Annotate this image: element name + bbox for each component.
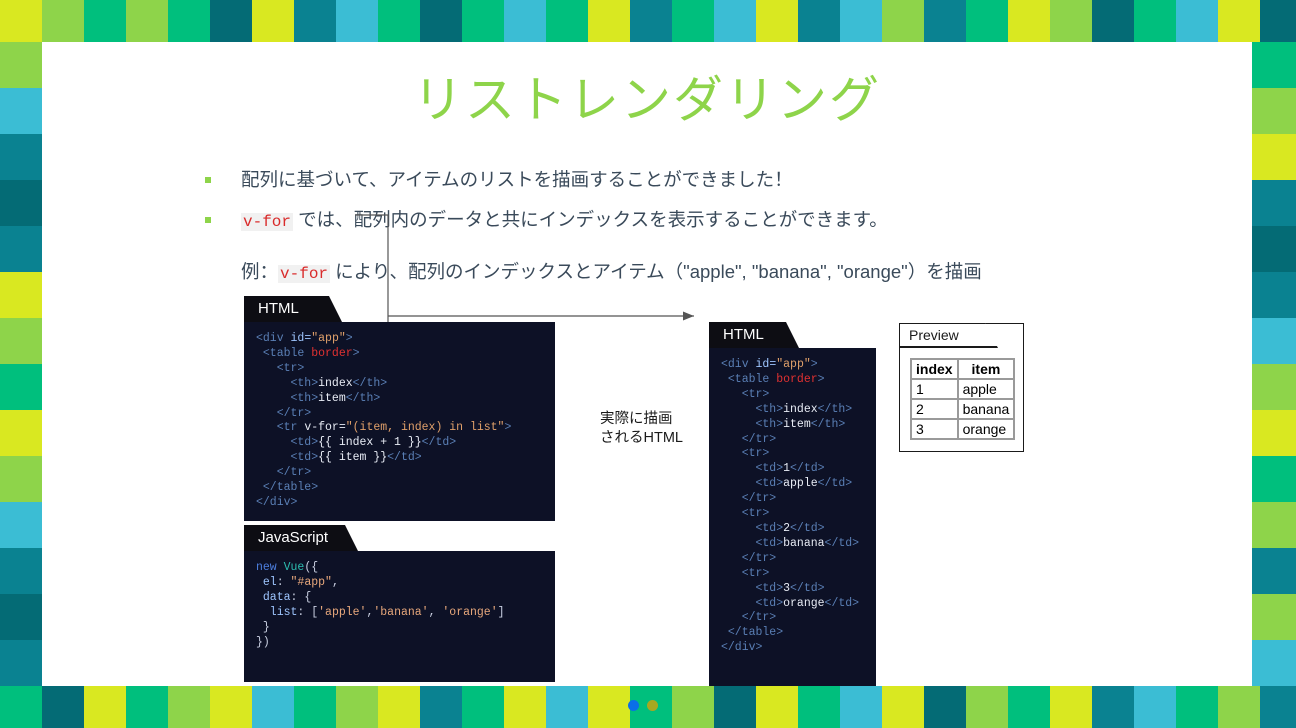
- decorative-tile: [1252, 180, 1296, 226]
- decorative-tile: [294, 0, 336, 42]
- decorative-tile: [84, 0, 126, 42]
- decorative-tile: [1092, 0, 1134, 42]
- preview-table-body: 1 apple 2 banana 3 orange: [911, 379, 1014, 439]
- decorative-tile: [0, 42, 42, 88]
- decorative-tile: [714, 0, 756, 42]
- code-token: item: [318, 392, 346, 405]
- code-token: {{ item }}: [318, 451, 387, 464]
- decorative-tile: [588, 686, 630, 728]
- decorative-tile: [504, 686, 546, 728]
- code-token: </th>: [818, 403, 853, 416]
- decorative-tile: [1252, 318, 1296, 364]
- decorative-tile: [378, 0, 420, 42]
- code-token: </table>: [256, 481, 318, 494]
- code-token: <tr>: [721, 447, 769, 460]
- code-token: "#app": [291, 576, 332, 589]
- decorative-tile: [210, 686, 252, 728]
- code-token: ,: [429, 606, 443, 619]
- decorative-tile: [1252, 42, 1296, 88]
- code-token: </table>: [721, 626, 783, 639]
- code-token: id=: [756, 358, 777, 371]
- decorative-tile: [1260, 686, 1296, 728]
- bullet-item-2-label: v-for では、配列内のデータと共にインデックスを表示することができます。: [241, 208, 888, 234]
- cell-item: orange: [958, 419, 1015, 439]
- decorative-tile: [1252, 456, 1296, 502]
- inline-code-v-for: v-for: [241, 213, 293, 231]
- decorative-tile: [1008, 0, 1050, 42]
- decorative-tile: [1176, 0, 1218, 42]
- decorative-tile: [0, 594, 42, 640]
- code-token: "(item, index) in list": [346, 421, 505, 434]
- slide-content-area: リストレンダリング 配列に基づいて、アイテムのリストを描画することができました！…: [42, 42, 1252, 686]
- code-token: <td>: [721, 462, 783, 475]
- decorative-tile: [546, 686, 588, 728]
- code-token: <td>: [721, 582, 783, 595]
- code-token: index: [318, 377, 353, 390]
- code-token: 'apple': [318, 606, 366, 619]
- decorative-tile: [0, 548, 42, 594]
- decorative-tile: [420, 686, 462, 728]
- code-token: <td>: [721, 522, 783, 535]
- code-token: apple: [783, 477, 818, 490]
- code-token: </tr>: [721, 552, 776, 565]
- table-header-row: index item: [911, 359, 1014, 379]
- panel-html-output-code: <div id="app"> <table border> <tr> <th>i…: [709, 348, 876, 686]
- code-token: </div>: [721, 641, 762, 654]
- table-row: 1 apple: [911, 379, 1014, 399]
- decorative-tile: [336, 0, 378, 42]
- bullet-item-1: 配列に基づいて、アイテムのリストを描画することができました！: [205, 168, 793, 193]
- page-title: リストレンダリング: [42, 60, 1252, 132]
- code-token: : {: [291, 591, 312, 604]
- code-token: <td>: [256, 451, 318, 464]
- code-token: item: [783, 418, 811, 431]
- code-token: <table: [256, 347, 311, 360]
- panel-html-output-tab[interactable]: HTML: [709, 322, 799, 348]
- code-token: </td>: [818, 477, 853, 490]
- decorative-tile: [462, 686, 504, 728]
- decorative-tile: [840, 0, 882, 42]
- code-token: ]: [498, 606, 505, 619]
- code-token: </td>: [790, 462, 825, 475]
- code-token: </tr>: [721, 433, 776, 446]
- decorative-tile: [378, 686, 420, 728]
- code-token: ({: [304, 561, 318, 574]
- panel-javascript: JavaScript new Vue({ el: "#app", data: {…: [244, 525, 555, 682]
- decorative-tile: [1260, 0, 1296, 42]
- code-token: </td>: [790, 522, 825, 535]
- code-token: v-for=: [304, 421, 345, 434]
- code-token: {{ index + 1 }}: [318, 436, 422, 449]
- code-token: <tr>: [721, 388, 769, 401]
- panel-preview-tab[interactable]: Preview: [899, 323, 998, 348]
- decorative-tile: [1050, 0, 1092, 42]
- decorative-tile: [0, 134, 42, 180]
- example-line: 例：v-for により、配列のインデックスとアイテム（"apple", "ban…: [241, 258, 982, 284]
- code-token: :: [277, 576, 291, 589]
- code-token: id=: [291, 332, 312, 345]
- panel-html-source-code: <div id="app"> <table border> <tr> <th>i…: [244, 322, 555, 521]
- code-token: Vue: [284, 561, 305, 574]
- code-token: </td>: [422, 436, 457, 449]
- code-token: orange: [783, 597, 824, 610]
- code-token: border: [776, 373, 817, 386]
- code-token: >: [818, 373, 825, 386]
- code-token: 3: [783, 582, 790, 595]
- decorative-tile: [588, 0, 630, 42]
- decorative-tile: [966, 686, 1008, 728]
- bullet-item-2: v-for では、配列内のデータと共にインデックスを表示することができます。: [205, 208, 888, 234]
- decorative-tile: [1252, 226, 1296, 272]
- decorative-border-left: [0, 42, 42, 686]
- decorative-tile: [1134, 686, 1176, 728]
- decorative-tile: [0, 226, 42, 272]
- code-token: >: [811, 358, 818, 371]
- decorative-tile: [1252, 364, 1296, 410]
- decorative-tile: [252, 0, 294, 42]
- panel-html-output: HTML <div id="app"> <table border> <tr> …: [709, 322, 876, 686]
- decorative-tile: [882, 686, 924, 728]
- cell-index: 2: [911, 399, 958, 419]
- preview-table-head: index item: [911, 359, 1014, 379]
- decorative-tile: [336, 686, 378, 728]
- bullet-item-1-label: 配列に基づいて、アイテムのリストを描画することができました！: [241, 168, 793, 193]
- code-token: </tr>: [256, 407, 311, 420]
- decorative-tile: [756, 0, 798, 42]
- code-token: <th>: [721, 403, 783, 416]
- decorative-tile: [252, 686, 294, 728]
- decorative-tile: [168, 0, 210, 42]
- decorative-tile: [756, 686, 798, 728]
- decorative-tile: [1252, 410, 1296, 456]
- decorative-tile: [1252, 594, 1296, 640]
- cell-index: 3: [911, 419, 958, 439]
- decorative-tile: [1252, 134, 1296, 180]
- code-token: <table: [721, 373, 776, 386]
- decorative-tile: [798, 686, 840, 728]
- code-token: index: [783, 403, 818, 416]
- decorative-tile: [0, 364, 42, 410]
- decorative-tile: [1252, 548, 1296, 594]
- decorative-tile: [1252, 640, 1296, 686]
- decorative-tile: [840, 686, 882, 728]
- inline-code-v-for: v-for: [278, 265, 330, 283]
- code-token: </td>: [825, 537, 860, 550]
- code-token: </tr>: [256, 466, 311, 479]
- code-token: </td>: [790, 582, 825, 595]
- decorative-tile: [672, 0, 714, 42]
- code-token: <td>: [721, 537, 783, 550]
- code-token: list: [256, 606, 297, 619]
- pagination-dot-1[interactable]: [628, 700, 639, 711]
- decorative-tile: [0, 272, 42, 318]
- decorative-tile: [1050, 686, 1092, 728]
- decorative-tile: [1252, 88, 1296, 134]
- decorative-tile: [462, 0, 504, 42]
- decorative-tile: [798, 0, 840, 42]
- decorative-tile: [0, 318, 42, 364]
- code-token: }): [256, 636, 270, 649]
- column-header-index: index: [911, 359, 958, 379]
- code-token: <tr>: [256, 362, 304, 375]
- pagination-dot-2[interactable]: [647, 700, 658, 711]
- connector-arrow: [42, 42, 1252, 686]
- code-token: >: [353, 347, 360, 360]
- code-token: <th>: [721, 418, 783, 431]
- panel-javascript-code: new Vue({ el: "#app", data: { list: ['ap…: [244, 551, 555, 682]
- code-token: }: [256, 621, 270, 634]
- decorative-tile: [1218, 686, 1260, 728]
- panel-javascript-tab[interactable]: JavaScript: [244, 525, 358, 551]
- slide-canvas: リストレンダリング 配列に基づいて、アイテムのリストを描画することができました！…: [0, 0, 1296, 728]
- code-token: <td>: [721, 477, 783, 490]
- decorative-tile: [0, 88, 42, 134]
- decorative-tile: [0, 456, 42, 502]
- panel-html-source: HTML <div id="app"> <table border> <tr> …: [244, 296, 555, 521]
- code-token: : [: [297, 606, 318, 619]
- decorative-tile: [1134, 0, 1176, 42]
- code-token: "app": [311, 332, 346, 345]
- example-prefix: 例：: [241, 261, 278, 282]
- code-token: 2: [783, 522, 790, 535]
- code-token: new: [256, 561, 284, 574]
- code-token: </th>: [811, 418, 846, 431]
- decorative-tile: [0, 686, 42, 728]
- code-token: >: [346, 332, 353, 345]
- decorative-tile: [966, 0, 1008, 42]
- preview-table: index item 1 apple 2 banana 3 or: [910, 358, 1015, 440]
- code-token: </td>: [825, 597, 860, 610]
- code-token: banana: [783, 537, 824, 550]
- decorative-tile: [504, 0, 546, 42]
- code-token: el: [256, 576, 277, 589]
- pagination-dots[interactable]: [628, 700, 658, 711]
- code-token: </div>: [256, 496, 297, 509]
- decorative-tile: [882, 0, 924, 42]
- decorative-tile: [0, 0, 42, 42]
- decorative-tile: [294, 686, 336, 728]
- code-token: <tr: [256, 421, 304, 434]
- table-row: 3 orange: [911, 419, 1014, 439]
- code-token: 'orange': [442, 606, 497, 619]
- bullet-item-2-text: では、配列内のデータと共にインデックスを表示することができます。: [293, 209, 888, 230]
- code-token: <tr>: [721, 567, 769, 580]
- code-token: 1: [783, 462, 790, 475]
- code-token: <div: [256, 332, 291, 345]
- code-token: border: [311, 347, 352, 360]
- code-token: "app": [776, 358, 811, 371]
- decorative-tile: [1252, 272, 1296, 318]
- panel-html-source-tab[interactable]: HTML: [244, 296, 342, 322]
- code-token: <div: [721, 358, 756, 371]
- decorative-tile: [126, 0, 168, 42]
- decorative-border-right: [1252, 42, 1296, 686]
- code-token: </tr>: [721, 492, 776, 505]
- decorative-tile: [546, 0, 588, 42]
- code-token: </th>: [346, 392, 381, 405]
- decorative-tile: [924, 686, 966, 728]
- cell-item: banana: [958, 399, 1015, 419]
- decorative-tile: [420, 0, 462, 42]
- decorative-tile: [0, 640, 42, 686]
- code-token: data: [256, 591, 291, 604]
- decorative-tile: [42, 686, 84, 728]
- cell-item: apple: [958, 379, 1015, 399]
- code-token: </th>: [353, 377, 388, 390]
- decorative-tile: [1008, 686, 1050, 728]
- decorative-tile: [1218, 0, 1260, 42]
- table-row: 2 banana: [911, 399, 1014, 419]
- decorative-border-top: [0, 0, 1296, 42]
- code-token: <td>: [256, 436, 318, 449]
- code-token: </td>: [387, 451, 422, 464]
- code-token: <th>: [256, 377, 318, 390]
- code-token: >: [504, 421, 511, 434]
- decorative-tile: [714, 686, 756, 728]
- decorative-tile: [0, 180, 42, 226]
- decorative-tile: [672, 686, 714, 728]
- code-token: <tr>: [721, 507, 769, 520]
- code-token: </tr>: [721, 611, 776, 624]
- cell-index: 1: [911, 379, 958, 399]
- decorative-tile: [84, 686, 126, 728]
- decorative-tile: [1176, 686, 1218, 728]
- decorative-tile: [0, 502, 42, 548]
- connector-label: 実際に描画 されるHTML: [600, 410, 683, 447]
- decorative-tile: [210, 0, 252, 42]
- code-token: <td>: [721, 597, 783, 610]
- decorative-tile: [924, 0, 966, 42]
- decorative-tile: [1252, 502, 1296, 548]
- decorative-tile: [630, 0, 672, 42]
- code-token: <th>: [256, 392, 318, 405]
- decorative-tile: [42, 0, 84, 42]
- decorative-tile: [126, 686, 168, 728]
- bullet-square-icon: [205, 217, 211, 223]
- decorative-tile: [1092, 686, 1134, 728]
- example-suffix: により、配列のインデックスとアイテム（"apple", "banana", "o…: [330, 261, 982, 282]
- decorative-tile: [0, 410, 42, 456]
- code-token: 'banana': [373, 606, 428, 619]
- code-token: ,: [332, 576, 339, 589]
- bullet-square-icon: [205, 177, 211, 183]
- decorative-tile: [168, 686, 210, 728]
- column-header-item: item: [958, 359, 1015, 379]
